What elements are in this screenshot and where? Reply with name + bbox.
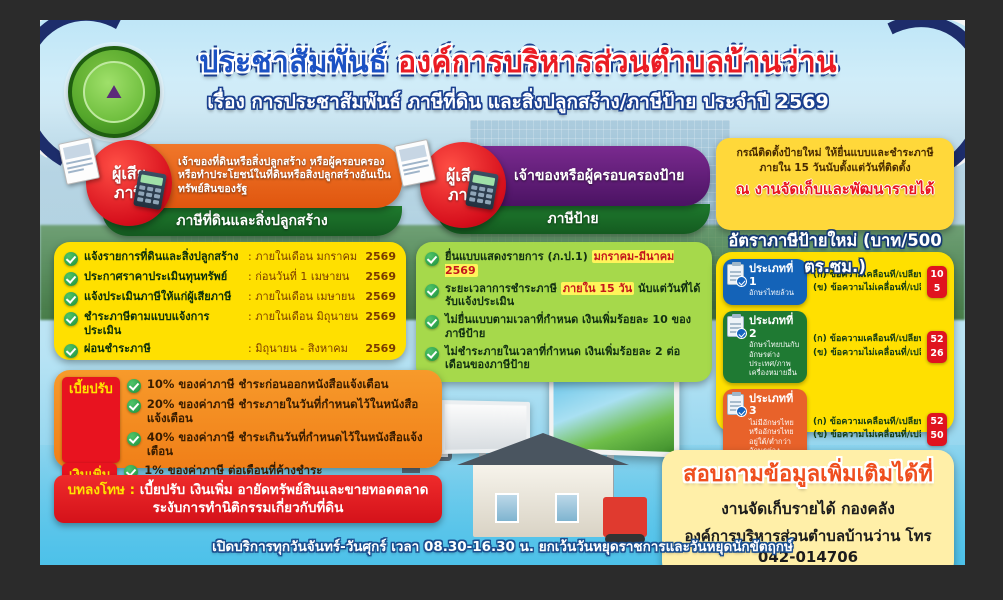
land-tax-row-when: : ภายในเดือน เมษายน (248, 290, 359, 304)
land-tax-row: ประกาศราคาประเมินทุนทรัพย์: ก่อนวันที่ 1… (64, 270, 396, 286)
check-icon (425, 347, 439, 361)
land-tax-row: ชำระภาษีตามแบบแจ้งการประเมิน: ภายในเดือน… (64, 310, 396, 338)
header-title-block: ประชาสัมพันธ์ องค์การบริหารส่วนตำบลบ้านว… (168, 46, 868, 113)
sign-tax-payer-desc: เจ้าของหรือผู้ครอบครองป้าย (514, 167, 684, 185)
new-sign-notice-text: กรณีติดตั้งป้ายใหม่ ให้ยื่นแบบและชำระภาษ… (716, 146, 954, 201)
sign-rate-line-text: (ข) ข้อความไม่เคลื่อนที่/เปลี่ยนไม่ได้ (813, 429, 921, 443)
house-graphic (473, 463, 613, 537)
sign-type-desc: อักษรไทยล้วน (749, 288, 802, 297)
notice-line2: ภายใน 15 วันนับตั้งแต่วันที่ติดตั้ง (759, 162, 910, 174)
sign-tax-rule-item: ระยะเวลาการชำระภาษี ภายใน 15 วัน นับแต่ว… (425, 282, 703, 310)
land-tax-row-year: 2569 (365, 290, 396, 304)
notice-line1: กรณีติดตั้งป้ายใหม่ ให้ยื่นแบบและชำระภาษ… (736, 147, 933, 159)
sign-rate-value: 5 (927, 282, 947, 296)
punishment-label: บทลงโทษ : (68, 482, 135, 498)
poster-canvas: ⛰ ประชาสัมพันธ์ องค์การบริหารส่วนตำบลบ้า… (40, 20, 965, 565)
check-badge-icon (736, 328, 747, 339)
sign-rate-line-text: (ข) ข้อความไม่เคลื่อนที่/เปลี่ยนไม่ได้ (813, 282, 921, 296)
sign-type-title: ประเภทที่ 3 (749, 393, 802, 418)
sign-tax-rule-item: ยื่นแบบแสดงรายการ (ภ.ป.1) มกราคม-มีนาคม … (425, 250, 703, 278)
check-icon (127, 432, 141, 446)
land-tax-schedule-list: แจ้งรายการที่ดินและสิ่งปลูกสร้าง: ภายในเ… (54, 242, 406, 358)
sign-tax-rule-text: ระยะเวลาการชำระภาษี ภายใน 15 วัน นับแต่ว… (445, 282, 703, 310)
sign-rate-value: 50 (927, 429, 947, 443)
page-title-part1: ประชาสัมพันธ์ (199, 45, 387, 80)
land-tax-row-when: : ภายในเดือน มกราคม (248, 250, 359, 264)
service-truck (603, 497, 647, 537)
sign-tax-rule-text: ไม่ยื่นแบบตามเวลาที่กำหนด เงินเพิ่มร้อยล… (445, 313, 703, 341)
penalty-fine-item: 40% ของค่าภาษี ชำระเกินวันที่กำหนดไว้ในห… (127, 430, 434, 459)
land-tax-row-label: แจ้งรายการที่ดินและสิ่งปลูกสร้าง (84, 250, 242, 264)
land-tax-row-year: 2569 (365, 342, 396, 356)
sign-tax-rule-highlight: มกราคม-มีนาคม 2569 (445, 250, 674, 277)
sign-rate-lines: (ก) ข้อความเคลื่อนที่/เปลี่ยนได้(ข) ข้อค… (813, 416, 921, 443)
check-icon (64, 272, 78, 286)
rate-table-heading: อัตราภาษีป้ายใหม่ (บาท/500 ตร.ซม.) (716, 228, 954, 280)
land-tax-row: แจ้งรายการที่ดินและสิ่งปลูกสร้าง: ภายในเ… (64, 250, 396, 266)
land-tax-row-year: 2569 (365, 250, 396, 264)
emblem-inner-seal: ⛰ (83, 61, 145, 123)
sign-tax-rule-text: ไม่ชำระภายในเวลาที่กำหนด เงินเพิ่มร้อยละ… (445, 345, 703, 373)
sign-rate-line-text: (ข) ข้อความไม่เคลื่อนที่/เปลี่ยนไม่ได้ (813, 347, 921, 361)
sign-rate-value: 52 (927, 415, 947, 429)
land-tax-row-year: 2569 (365, 310, 396, 324)
sign-type-tag: ประเภทที่ 2อักษรไทยปนกับอักษรต่างประเทศ/… (723, 311, 807, 383)
sign-tax-rule-highlight: ภายใน 15 วัน (561, 282, 634, 295)
land-tax-row-label: ผ่อนชำระภาษี (84, 342, 242, 356)
check-badge-icon (736, 406, 747, 417)
house-window-right (555, 493, 579, 523)
sign-rate-value: 52 (927, 333, 947, 347)
check-icon (425, 284, 439, 298)
sign-tax-rule-item: ไม่ยื่นแบบตามเวลาที่กำหนด เงินเพิ่มร้อยล… (425, 313, 703, 341)
land-tax-row: ผ่อนชำระภาษี: มิถุนายน - สิงหาคม2569 (64, 342, 396, 358)
sign-type-title: ประเภทที่ 2 (749, 315, 802, 340)
sign-rate-value: 26 (927, 347, 947, 361)
house-window-left (495, 493, 519, 523)
land-tax-row-label: ชำระภาษีตามแบบแจ้งการประเมิน (84, 310, 242, 338)
sign-rate-line-text: (ก) ข้อความเคลื่อนที่/เปลี่ยนได้ (813, 333, 921, 347)
sign-tax-rules-card: ยื่นแบบแสดงรายการ (ภ.ป.1) มกราคม-มีนาคม … (416, 242, 712, 382)
notice-line3: ณ งานจัดเก็บและพัฒนารายได้ (716, 179, 954, 201)
check-icon (64, 252, 78, 266)
penalty-fine-item: 20% ของค่าภาษี ชำระภายในวันที่กำหนดไว้ใน… (127, 397, 434, 426)
sign-rate-values: 5250 (927, 413, 947, 446)
sign-rate-row: ประเภทที่ 2อักษรไทยปนกับอักษรต่างประเทศ/… (723, 311, 947, 383)
check-icon (425, 252, 439, 266)
sign-rate-line-text: (ก) ข้อความเคลื่อนที่/เปลี่ยนได้ (813, 416, 921, 430)
penalty-card: เบี้ยปรับ 10% ของค่าภาษี ชำระก่อนออกหนัง… (54, 370, 442, 468)
sign-tax-rule-item: ไม่ชำระภายในเวลาที่กำหนด เงินเพิ่มร้อยละ… (425, 345, 703, 373)
page-title: ประชาสัมพันธ์ องค์การบริหารส่วนตำบลบ้านว… (168, 46, 868, 81)
check-icon (127, 399, 141, 413)
sign-type-desc: อักษรไทยปนกับอักษรต่างประเทศ/ภาพ เครื่อง… (749, 340, 802, 378)
service-hours-footer: เปิดบริการทุกวันจันทร์-วันศุกร์ เวลา 08.… (40, 535, 965, 557)
land-tax-row: แจ้งประเมินภาษีให้แก่ผู้เสียภาษี: ภายในเ… (64, 290, 396, 306)
page-subtitle: เรื่อง การประชาสัมพันธ์ ภาษีที่ดิน และสิ… (168, 91, 868, 114)
check-icon (425, 315, 439, 329)
sign-rate-rows: ประเภทที่ 1อักษรไทยล้วน(ก) ข้อความเคลื่อ… (716, 252, 954, 470)
land-tax-payer-desc: เจ้าของที่ดินหรือสิ่งปลูกสร้าง หรือผู้คร… (178, 156, 392, 197)
punishment-line1: เบี้ยปรับ เงินเพิ่ม อายัดทรัพย์สินและขาย… (140, 482, 429, 498)
penalty-fine-label: เบี้ยปรับ (62, 377, 120, 463)
contact-office: งานจัดเก็บรายได้ กองคลัง (676, 496, 940, 521)
sign-tax-rules-list: ยื่นแบบแสดงรายการ (ภ.ป.1) มกราคม-มีนาคม … (416, 242, 712, 372)
land-tax-row-when: : ก่อนวันที่ 1 เมษายน (248, 270, 359, 284)
organization-emblem-logo: ⛰ (68, 46, 160, 138)
land-tax-row-label: แจ้งประเมินภาษีให้แก่ผู้เสียภาษี (84, 290, 242, 304)
land-tax-row-when: : มิถุนายน - สิงหาคม (248, 342, 359, 356)
punishment-bar: บทลงโทษ : เบี้ยปรับ เงินเพิ่ม อายัดทรัพย… (54, 475, 442, 523)
land-tax-row-year: 2569 (365, 270, 396, 284)
penalty-fine-item-text: 40% ของค่าภาษี ชำระเกินวันที่กำหนดไว้ในห… (147, 430, 434, 459)
land-tax-row-label: ประกาศราคาประเมินทุนทรัพย์ (84, 270, 242, 284)
penalty-fine-list: 10% ของค่าภาษี ชำระก่อนออกหนังสือแจ้งเตื… (127, 377, 434, 463)
sign-rate-values: 5226 (927, 331, 947, 364)
contact-heading: สอบถามข้อมูลเพิ่มเติมได้ที่ (676, 462, 940, 488)
page-title-part2: องค์การบริหารส่วนตำบลบ้านว่าน (398, 45, 837, 80)
check-icon (64, 312, 78, 326)
land-tax-schedule-card: แจ้งรายการที่ดินและสิ่งปลูกสร้าง: ภายในเ… (54, 242, 406, 360)
sign-rate-lines: (ก) ข้อความเคลื่อนที่/เปลี่ยนได้(ข) ข้อค… (813, 333, 921, 360)
sign-tax-rule-text: ยื่นแบบแสดงรายการ (ภ.ป.1) มกราคม-มีนาคม … (445, 250, 703, 278)
check-icon (64, 344, 78, 358)
land-tax-row-when: : ภายในเดือน มิถุนายน (248, 310, 359, 324)
penalty-fine-block: เบี้ยปรับ 10% ของค่าภาษี ชำระก่อนออกหนัง… (54, 370, 442, 463)
penalty-fine-item-text: 20% ของค่าภาษี ชำระภายในวันที่กำหนดไว้ใน… (147, 397, 434, 426)
penalty-fine-item: 10% ของค่าภาษี ชำระก่อนออกหนังสือแจ้งเตื… (127, 377, 434, 393)
check-icon (64, 292, 78, 306)
punishment-line2: ระงับการทำนิติกรรมเกี่ยวกับที่ดิน (64, 499, 432, 517)
punishment-line1-wrap: บทลงโทษ : เบี้ยปรับ เงินเพิ่ม อายัดทรัพย… (64, 481, 432, 499)
penalty-fine-item-text: 10% ของค่าภาษี ชำระก่อนออกหนังสือแจ้งเตื… (147, 377, 389, 391)
check-icon (127, 379, 141, 393)
